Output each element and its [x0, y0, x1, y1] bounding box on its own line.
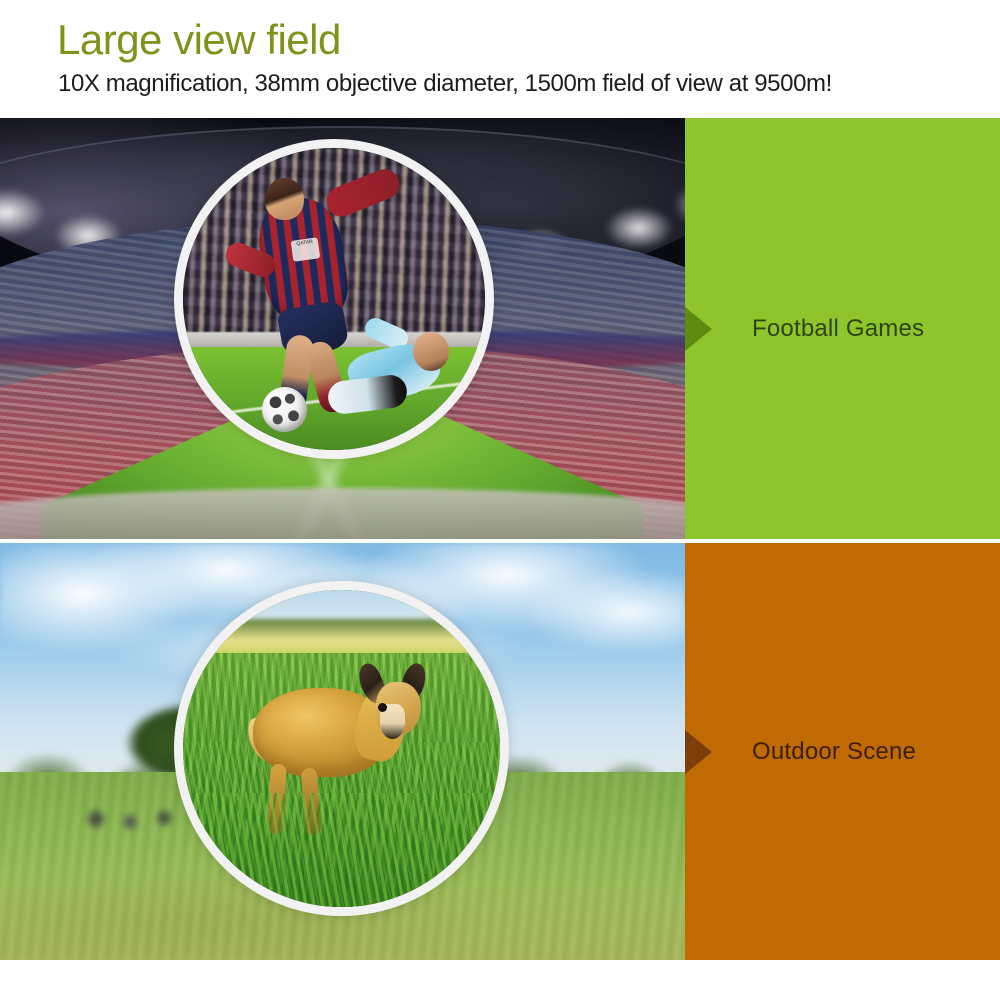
header: Large view field 10X magnification, 38mm… [0, 0, 1000, 118]
football-closeup: QATAR [183, 148, 485, 450]
outdoor-label: Outdoor Scene [752, 738, 916, 766]
closeup-foreground-grass [183, 793, 500, 907]
section-football: QATAR Football Games [0, 118, 1000, 539]
football-label-panel: Football Games [685, 118, 1000, 539]
outdoor-label-panel: Outdoor Scene [685, 543, 1000, 960]
stadium-front-barrier [0, 488, 685, 539]
arrow-right-icon [685, 307, 712, 351]
deer-closeup [183, 590, 500, 907]
magnifier-circle-football: QATAR [183, 148, 485, 450]
section-outdoor: Outdoor Scene [0, 543, 1000, 960]
jersey-sponsor-text: QATAR [290, 237, 320, 262]
arrow-right-icon [685, 730, 712, 774]
page-title: Large view field [57, 17, 341, 63]
product-feature-page: Large view field 10X magnification, 38mm… [0, 0, 1000, 1000]
page-subtitle: 10X magnification, 38mm objective diamet… [58, 70, 832, 98]
football-scene-image: QATAR [0, 118, 685, 539]
magnifier-circle-outdoor [183, 590, 500, 907]
soccer-ball [262, 387, 307, 432]
attacker-head [265, 178, 304, 220]
outdoor-scene-image [0, 543, 685, 960]
defender-head [413, 332, 449, 371]
football-label: Football Games [752, 315, 924, 343]
